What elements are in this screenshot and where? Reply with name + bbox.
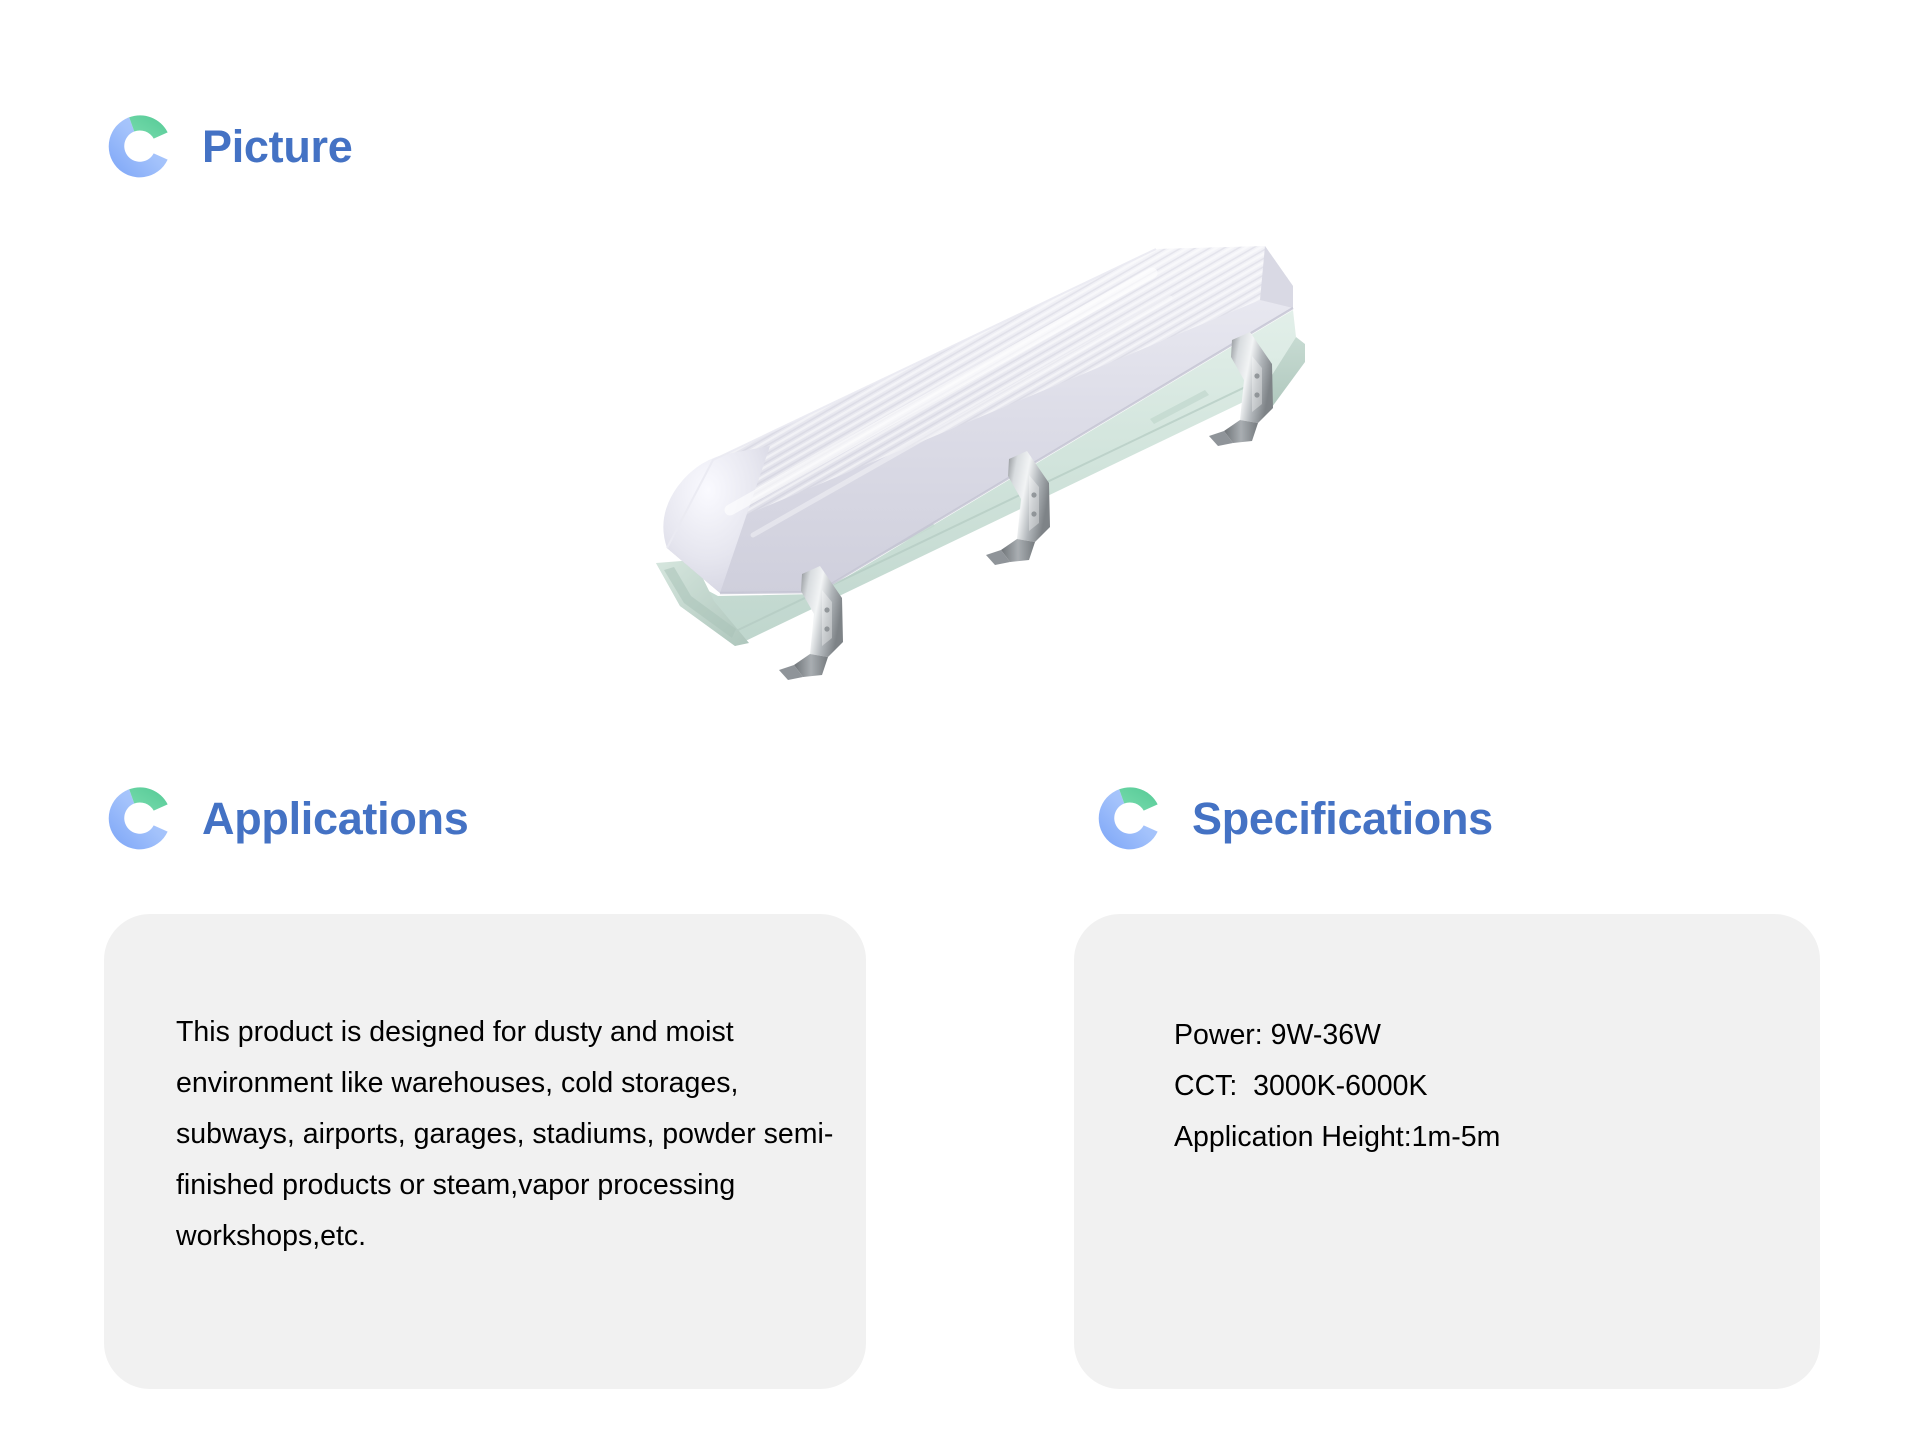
section-header-specifications: Specifications [1094,782,1493,854]
specifications-list: Power: 9W-36W CCT: 3000K-6000K Applicati… [1174,1010,1774,1163]
spec-item-application-height: Application Height:1m-5m [1174,1112,1774,1163]
applications-body-text: This product is designed for dusty and m… [176,1007,836,1262]
led-tri-proof-light-figure [560,210,1400,710]
section-header-picture: Picture [104,110,352,182]
spec-item-cct: CCT: 3000K-6000K [1174,1061,1774,1112]
c-ring-logo-icon [104,782,176,854]
section-title-picture: Picture [202,124,352,169]
spec-item-power: Power: 9W-36W [1174,1010,1774,1061]
product-spec-sheet: Picture [0,0,1920,1440]
applications-card: This product is designed for dusty and m… [104,914,866,1389]
section-title-specifications: Specifications [1192,796,1493,841]
section-header-applications: Applications [104,782,468,854]
c-ring-logo-icon [104,110,176,182]
product-image-stage [560,210,1400,710]
section-title-applications: Applications [202,796,468,841]
c-ring-logo-icon [1094,782,1166,854]
specifications-card: Power: 9W-36W CCT: 3000K-6000K Applicati… [1074,914,1820,1389]
